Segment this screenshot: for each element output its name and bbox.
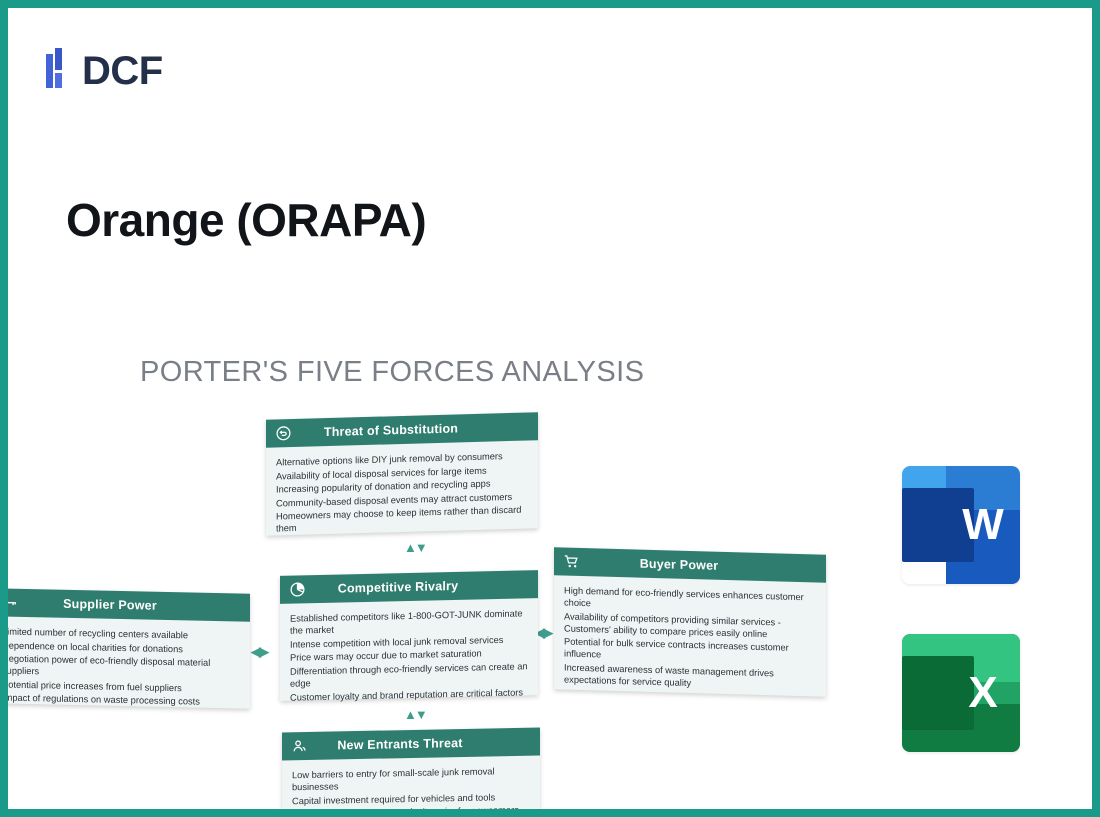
excel-spreadsheet-icon[interactable]: X [902, 634, 1020, 752]
card-buyer-power: Buyer Power High demand for eco-friendly… [554, 547, 826, 697]
card-body: Established competitors like 1-800-GOT-J… [280, 598, 538, 713]
card-body: Low barriers to entry for small-scale ju… [282, 756, 540, 809]
brand-name: DCF [82, 49, 163, 94]
card-header: Competitive Rivalry [280, 570, 538, 604]
list-item: Increased awareness of waste management … [564, 662, 816, 693]
diagram-heading: PORTER'S FIVE FORCES ANALYSIS [140, 356, 644, 389]
card-threat-of-substitution: Threat of Substitution Alternative optio… [266, 412, 538, 536]
list-item: Established competitors like 1-800-GOT-J… [290, 607, 528, 637]
key-icon [8, 594, 18, 611]
list-item: Differentiation through eco-friendly ser… [290, 660, 528, 690]
card-title: Competitive Rivalry [280, 577, 538, 597]
card-header: Supplier Power [8, 588, 250, 621]
card-body: Alternative options like DIY junk remova… [266, 440, 538, 545]
connector-arrows-left: ◀▶ [251, 645, 267, 658]
card-title: Buyer Power [554, 554, 826, 576]
card-competitive-rivalry: Competitive Rivalry Established competit… [280, 570, 538, 701]
card-body: Limited number of recycling centers avai… [8, 616, 250, 718]
brand-logo[interactable]: DCF [46, 48, 163, 94]
card-title: Supplier Power [8, 595, 250, 614]
card-header: New Entrants Threat [282, 728, 540, 761]
refresh-cycle-icon [275, 425, 292, 442]
list-item: Negotiation power of eco-friendly dispos… [8, 653, 240, 682]
card-body: High demand for eco-friendly services en… [554, 575, 826, 702]
word-document-icon[interactable]: W [902, 466, 1020, 584]
card-supplier-power: Supplier Power Limited number of recycli… [8, 588, 250, 708]
pie-chart-icon [289, 581, 306, 598]
connector-arrows-top: ▲▼ [404, 541, 426, 554]
shopping-cart-icon [563, 553, 580, 570]
list-item: Low barriers to entry for small-scale ju… [292, 765, 530, 794]
user-group-icon [291, 737, 308, 754]
card-title: New Entrants Threat [282, 735, 540, 754]
word-icon-letter: W [946, 466, 1020, 584]
list-item: Homeowners may choose to keep items rath… [276, 504, 528, 535]
page-title: Orange (ORAPA) [66, 193, 426, 247]
card-new-entrants-threat: New Entrants Threat Low barriers to entr… [282, 728, 540, 809]
excel-icon-letter: X [946, 634, 1020, 752]
card-title: Threat of Substitution [266, 419, 538, 441]
page-canvas: DCF Orange (ORAPA) PORTER'S FIVE FORCES … [8, 8, 1092, 809]
dcf-bars-logo-icon [46, 48, 72, 94]
